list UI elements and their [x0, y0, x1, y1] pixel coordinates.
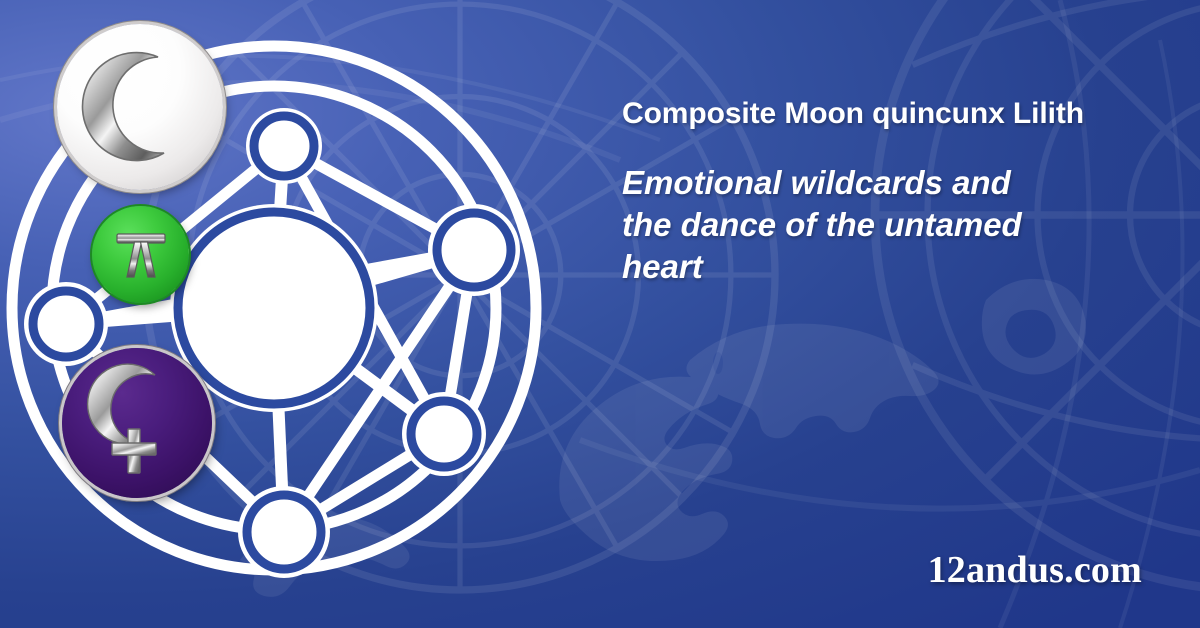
wheel-node-lower-right [402, 392, 486, 476]
wheel-node-upper-right [428, 204, 520, 296]
crescent-moon-icon [80, 47, 200, 167]
wheel-center-disc [170, 204, 378, 412]
wheel-node-top [246, 108, 322, 184]
black-moon-lilith-icon [81, 367, 193, 479]
subtitle-line-3: heart [622, 246, 1022, 288]
brand-watermark[interactable]: 12andus.com [928, 548, 1142, 592]
astrology-aspect-card: Composite Moon quincunx Lilith Emotional… [0, 0, 1200, 628]
watermark-chart-wheel-right [769, 0, 1200, 628]
text-column: Composite Moon quincunx Lilith Emotional… [622, 96, 1162, 289]
subtitle-line-1: Emotional wildcards and [622, 162, 1022, 204]
wheel-node-left [24, 282, 108, 366]
part-of-fortune-icon [107, 221, 175, 289]
aspect-subtitle: Emotional wildcards and the dance of the… [622, 162, 1022, 289]
aspect-title: Composite Moon quincunx Lilith [622, 96, 1162, 132]
subtitle-line-2: the dance of the untamed [622, 204, 1022, 246]
moon-badge [57, 24, 223, 190]
wheel-node-bottom [238, 486, 330, 578]
part-of-fortune-badge [92, 206, 189, 303]
lilith-badge [62, 348, 212, 498]
